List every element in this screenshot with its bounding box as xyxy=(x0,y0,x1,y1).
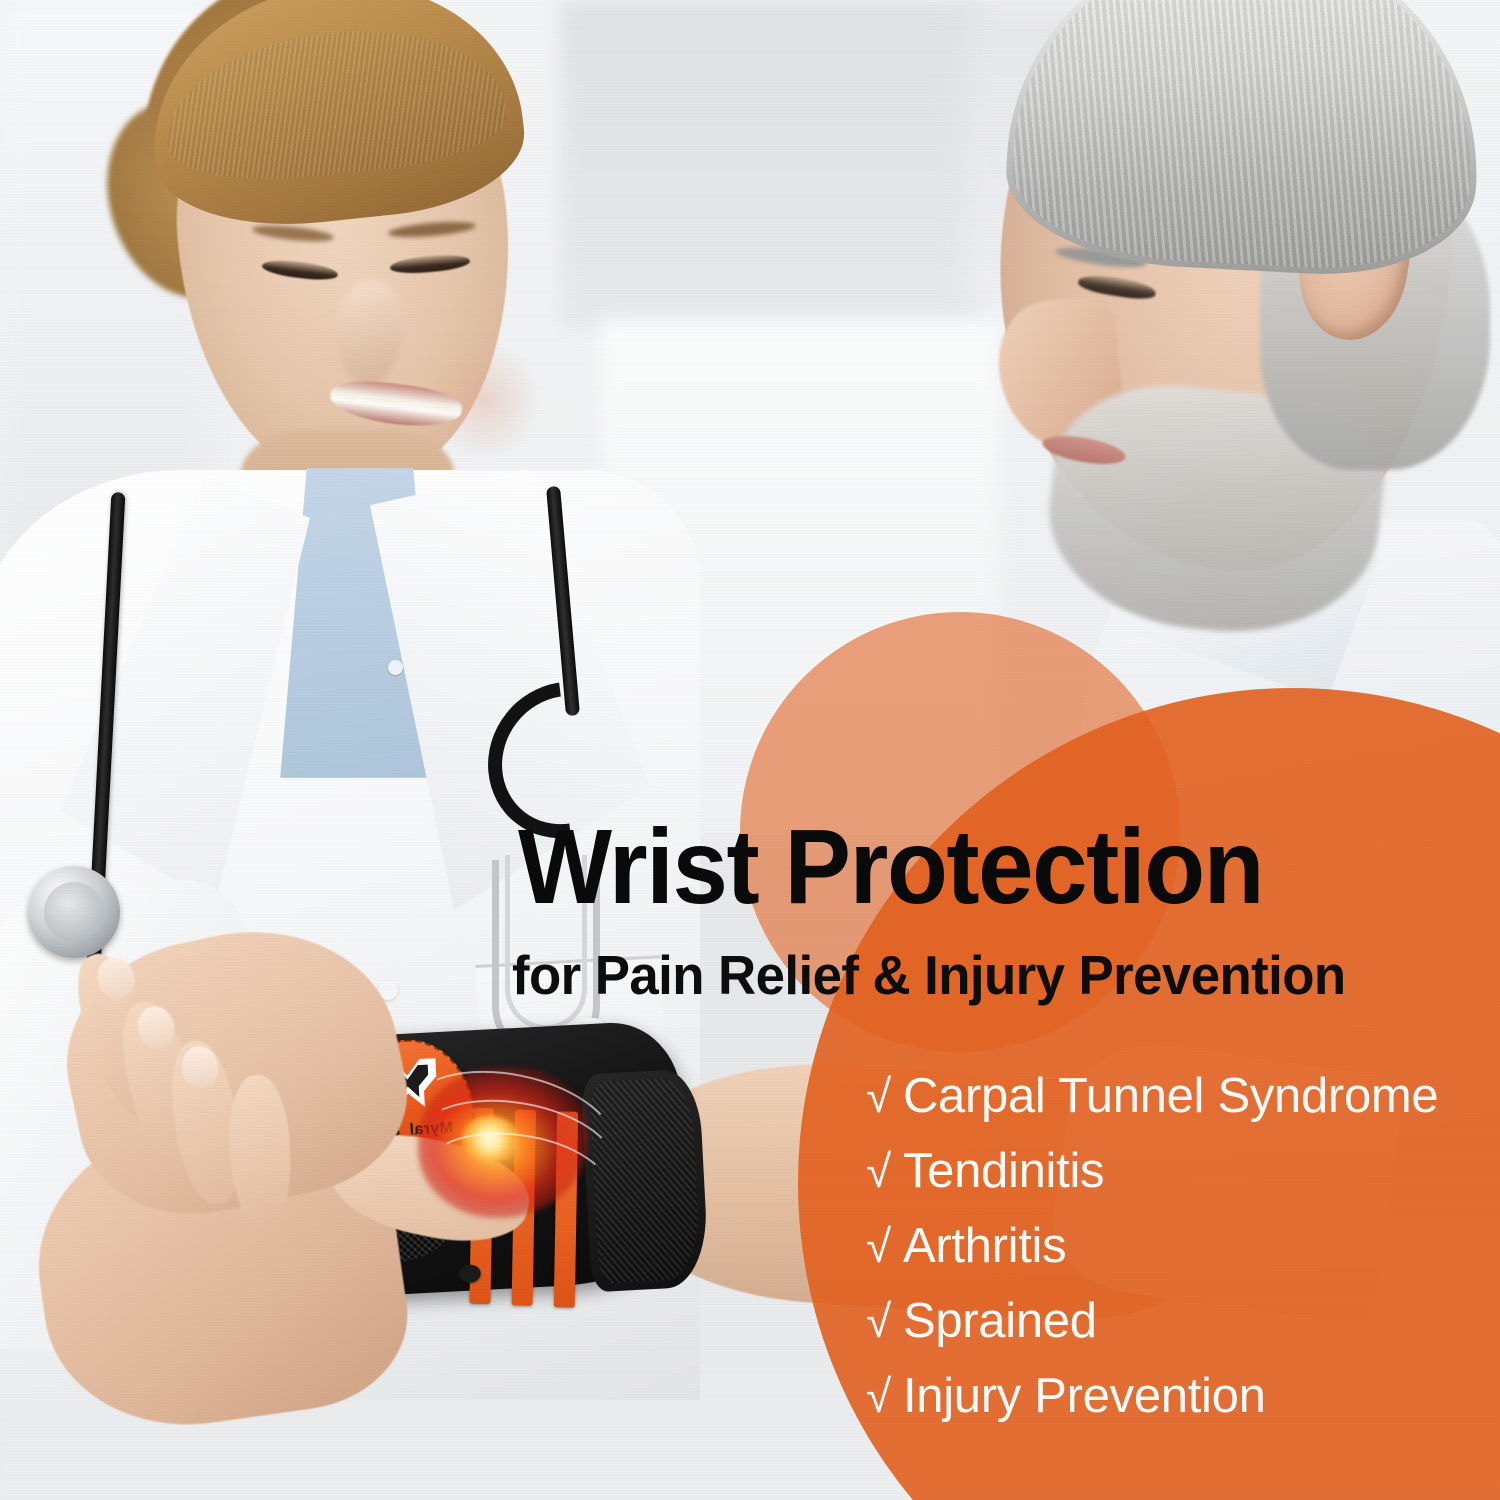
benefit-label: Injury Prevention xyxy=(903,1372,1266,1421)
patient-hair xyxy=(1002,0,1489,282)
benefit-label: Arthritis xyxy=(903,1222,1066,1271)
list-item: √ Carpal Tunnel Syndrome xyxy=(866,1072,1500,1147)
check-icon: √ xyxy=(866,1223,891,1269)
benefits-list: √ Carpal Tunnel Syndrome √ Tendinitis √ … xyxy=(866,1072,1500,1447)
page-subtitle: for Pain Relief & Injury Prevention xyxy=(512,948,1472,1003)
shirt-button xyxy=(388,660,403,675)
list-item: √ Tendinitis xyxy=(866,1147,1500,1222)
list-item: √ Arthritis xyxy=(866,1222,1500,1297)
stethoscope-chestpiece xyxy=(28,866,120,958)
list-item: √ Sprained xyxy=(866,1297,1500,1372)
benefit-label: Sprained xyxy=(903,1297,1097,1346)
check-icon: √ xyxy=(866,1298,891,1344)
benefit-label: Tendinitis xyxy=(903,1147,1104,1196)
product-banner: Myral_axia Wrist Protection for Pain Rel… xyxy=(0,0,1500,1500)
check-icon: √ xyxy=(866,1148,891,1194)
page-title: Wrist Protection xyxy=(518,814,1439,920)
check-icon: √ xyxy=(866,1073,891,1119)
list-item: √ Injury Prevention xyxy=(866,1372,1500,1447)
check-icon: √ xyxy=(866,1373,891,1419)
pain-hotspot-indicator xyxy=(418,1068,588,1218)
benefit-label: Carpal Tunnel Syndrome xyxy=(903,1072,1438,1121)
